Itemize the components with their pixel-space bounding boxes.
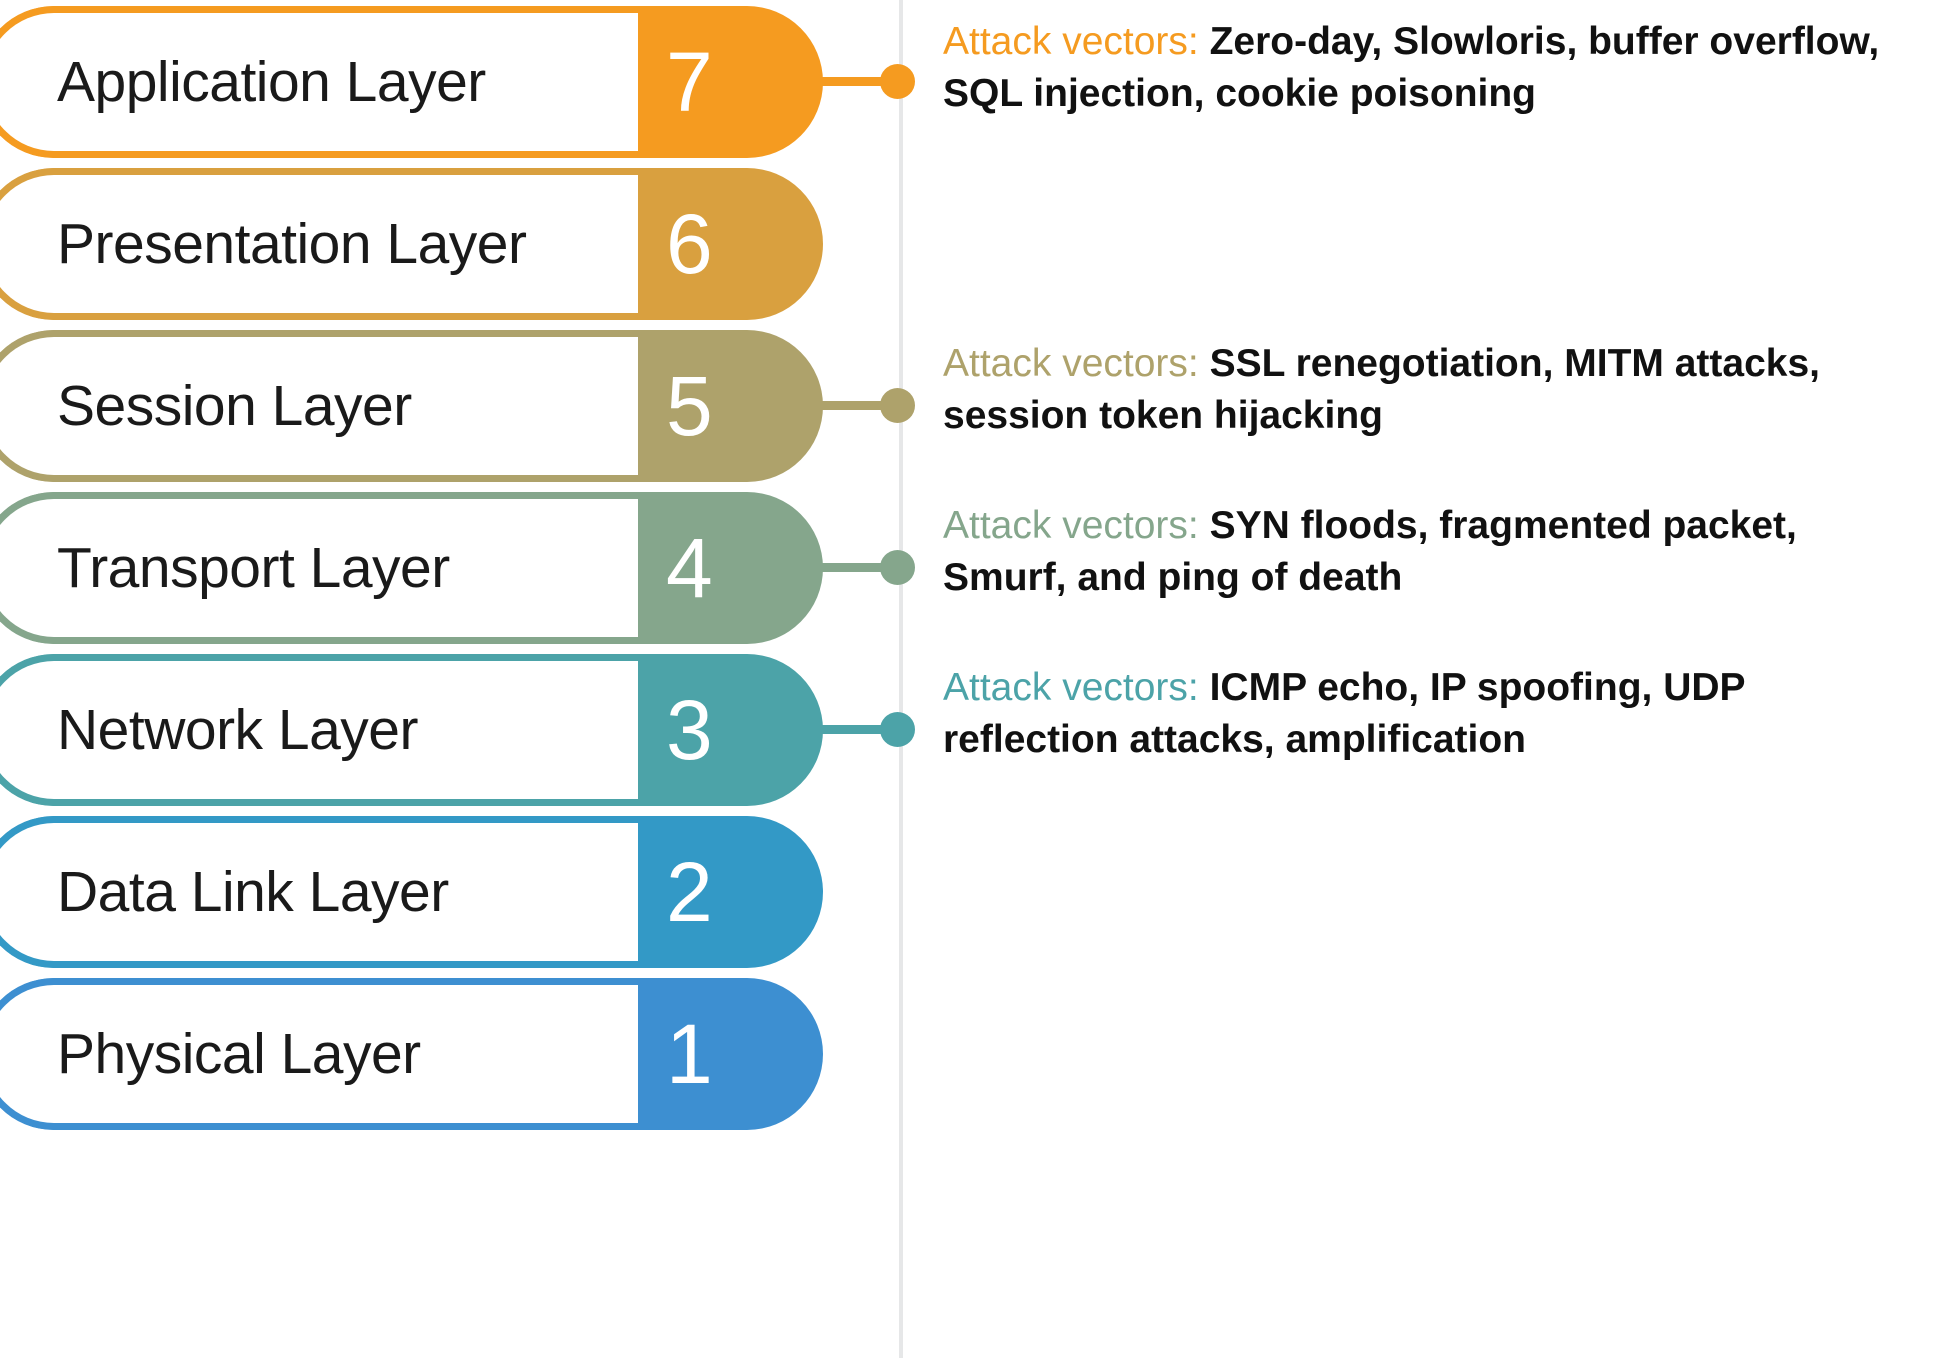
attack-vectors-label: Attack vectors: (943, 666, 1199, 709)
layer-name-label: Presentation Layer (57, 211, 526, 277)
layer-name-container: Physical Layer (0, 978, 638, 1130)
osi-layer-diagram: Application Layer7Presentation Layer6Ses… (0, 0, 1939, 1358)
layer-name-label: Application Layer (57, 49, 486, 115)
layer-number: 1 (666, 1012, 713, 1096)
connector-5 (806, 401, 902, 410)
layer-name-container: Data Link Layer (0, 816, 638, 968)
layer-pill-4[interactable]: Transport Layer4 (0, 492, 823, 644)
layer-name-label: Physical Layer (57, 1021, 421, 1087)
annotation-layer-4: Attack vectors: SYN floods, fragmented p… (943, 500, 1903, 604)
connector-7 (806, 77, 902, 86)
connector-dot (880, 388, 915, 423)
layer-name-container: Network Layer (0, 654, 638, 806)
layer-name-container: Session Layer (0, 330, 638, 482)
layer-number-container: 4 (638, 492, 823, 644)
layer-number-container: 6 (638, 168, 823, 320)
layer-name-container: Transport Layer (0, 492, 638, 644)
layer-name-container: Application Layer (0, 6, 638, 158)
layer-pill-2[interactable]: Data Link Layer2 (0, 816, 823, 968)
layer-pill-7[interactable]: Application Layer7 (0, 6, 823, 158)
layer-name-label: Transport Layer (57, 535, 450, 601)
annotation-layer-7: Attack vectors: Zero-day, Slowloris, buf… (943, 16, 1903, 120)
layer-name-label: Session Layer (57, 373, 412, 439)
connector-3 (806, 725, 902, 734)
layer-name-label: Data Link Layer (57, 859, 449, 925)
layer-number-container: 1 (638, 978, 823, 1130)
layer-pill-5[interactable]: Session Layer5 (0, 330, 823, 482)
vertical-divider (899, 0, 903, 1358)
layer-number-container: 3 (638, 654, 823, 806)
connector-dot (880, 64, 915, 99)
annotation-layer-3: Attack vectors: ICMP echo, IP spoofing, … (943, 662, 1903, 766)
attack-vectors-label: Attack vectors: (943, 342, 1199, 385)
layer-name-container: Presentation Layer (0, 168, 638, 320)
layer-name-label: Network Layer (57, 697, 418, 763)
layer-number: 6 (666, 202, 713, 286)
layer-number: 7 (666, 40, 713, 124)
layer-pill-3[interactable]: Network Layer3 (0, 654, 823, 806)
layer-number: 5 (666, 364, 713, 448)
layer-number-container: 2 (638, 816, 823, 968)
layer-number: 4 (666, 526, 713, 610)
layer-number: 3 (666, 688, 713, 772)
layer-number: 2 (666, 850, 713, 934)
connector-4 (806, 563, 902, 572)
layer-number-container: 5 (638, 330, 823, 482)
layer-pill-1[interactable]: Physical Layer1 (0, 978, 823, 1130)
layer-number-container: 7 (638, 6, 823, 158)
connector-dot (880, 712, 915, 747)
connector-dot (880, 550, 915, 585)
attack-vectors-label: Attack vectors: (943, 504, 1199, 547)
annotation-layer-5: Attack vectors: SSL renegotiation, MITM … (943, 338, 1903, 442)
attack-vectors-label: Attack vectors: (943, 20, 1199, 63)
layer-pill-6[interactable]: Presentation Layer6 (0, 168, 823, 320)
